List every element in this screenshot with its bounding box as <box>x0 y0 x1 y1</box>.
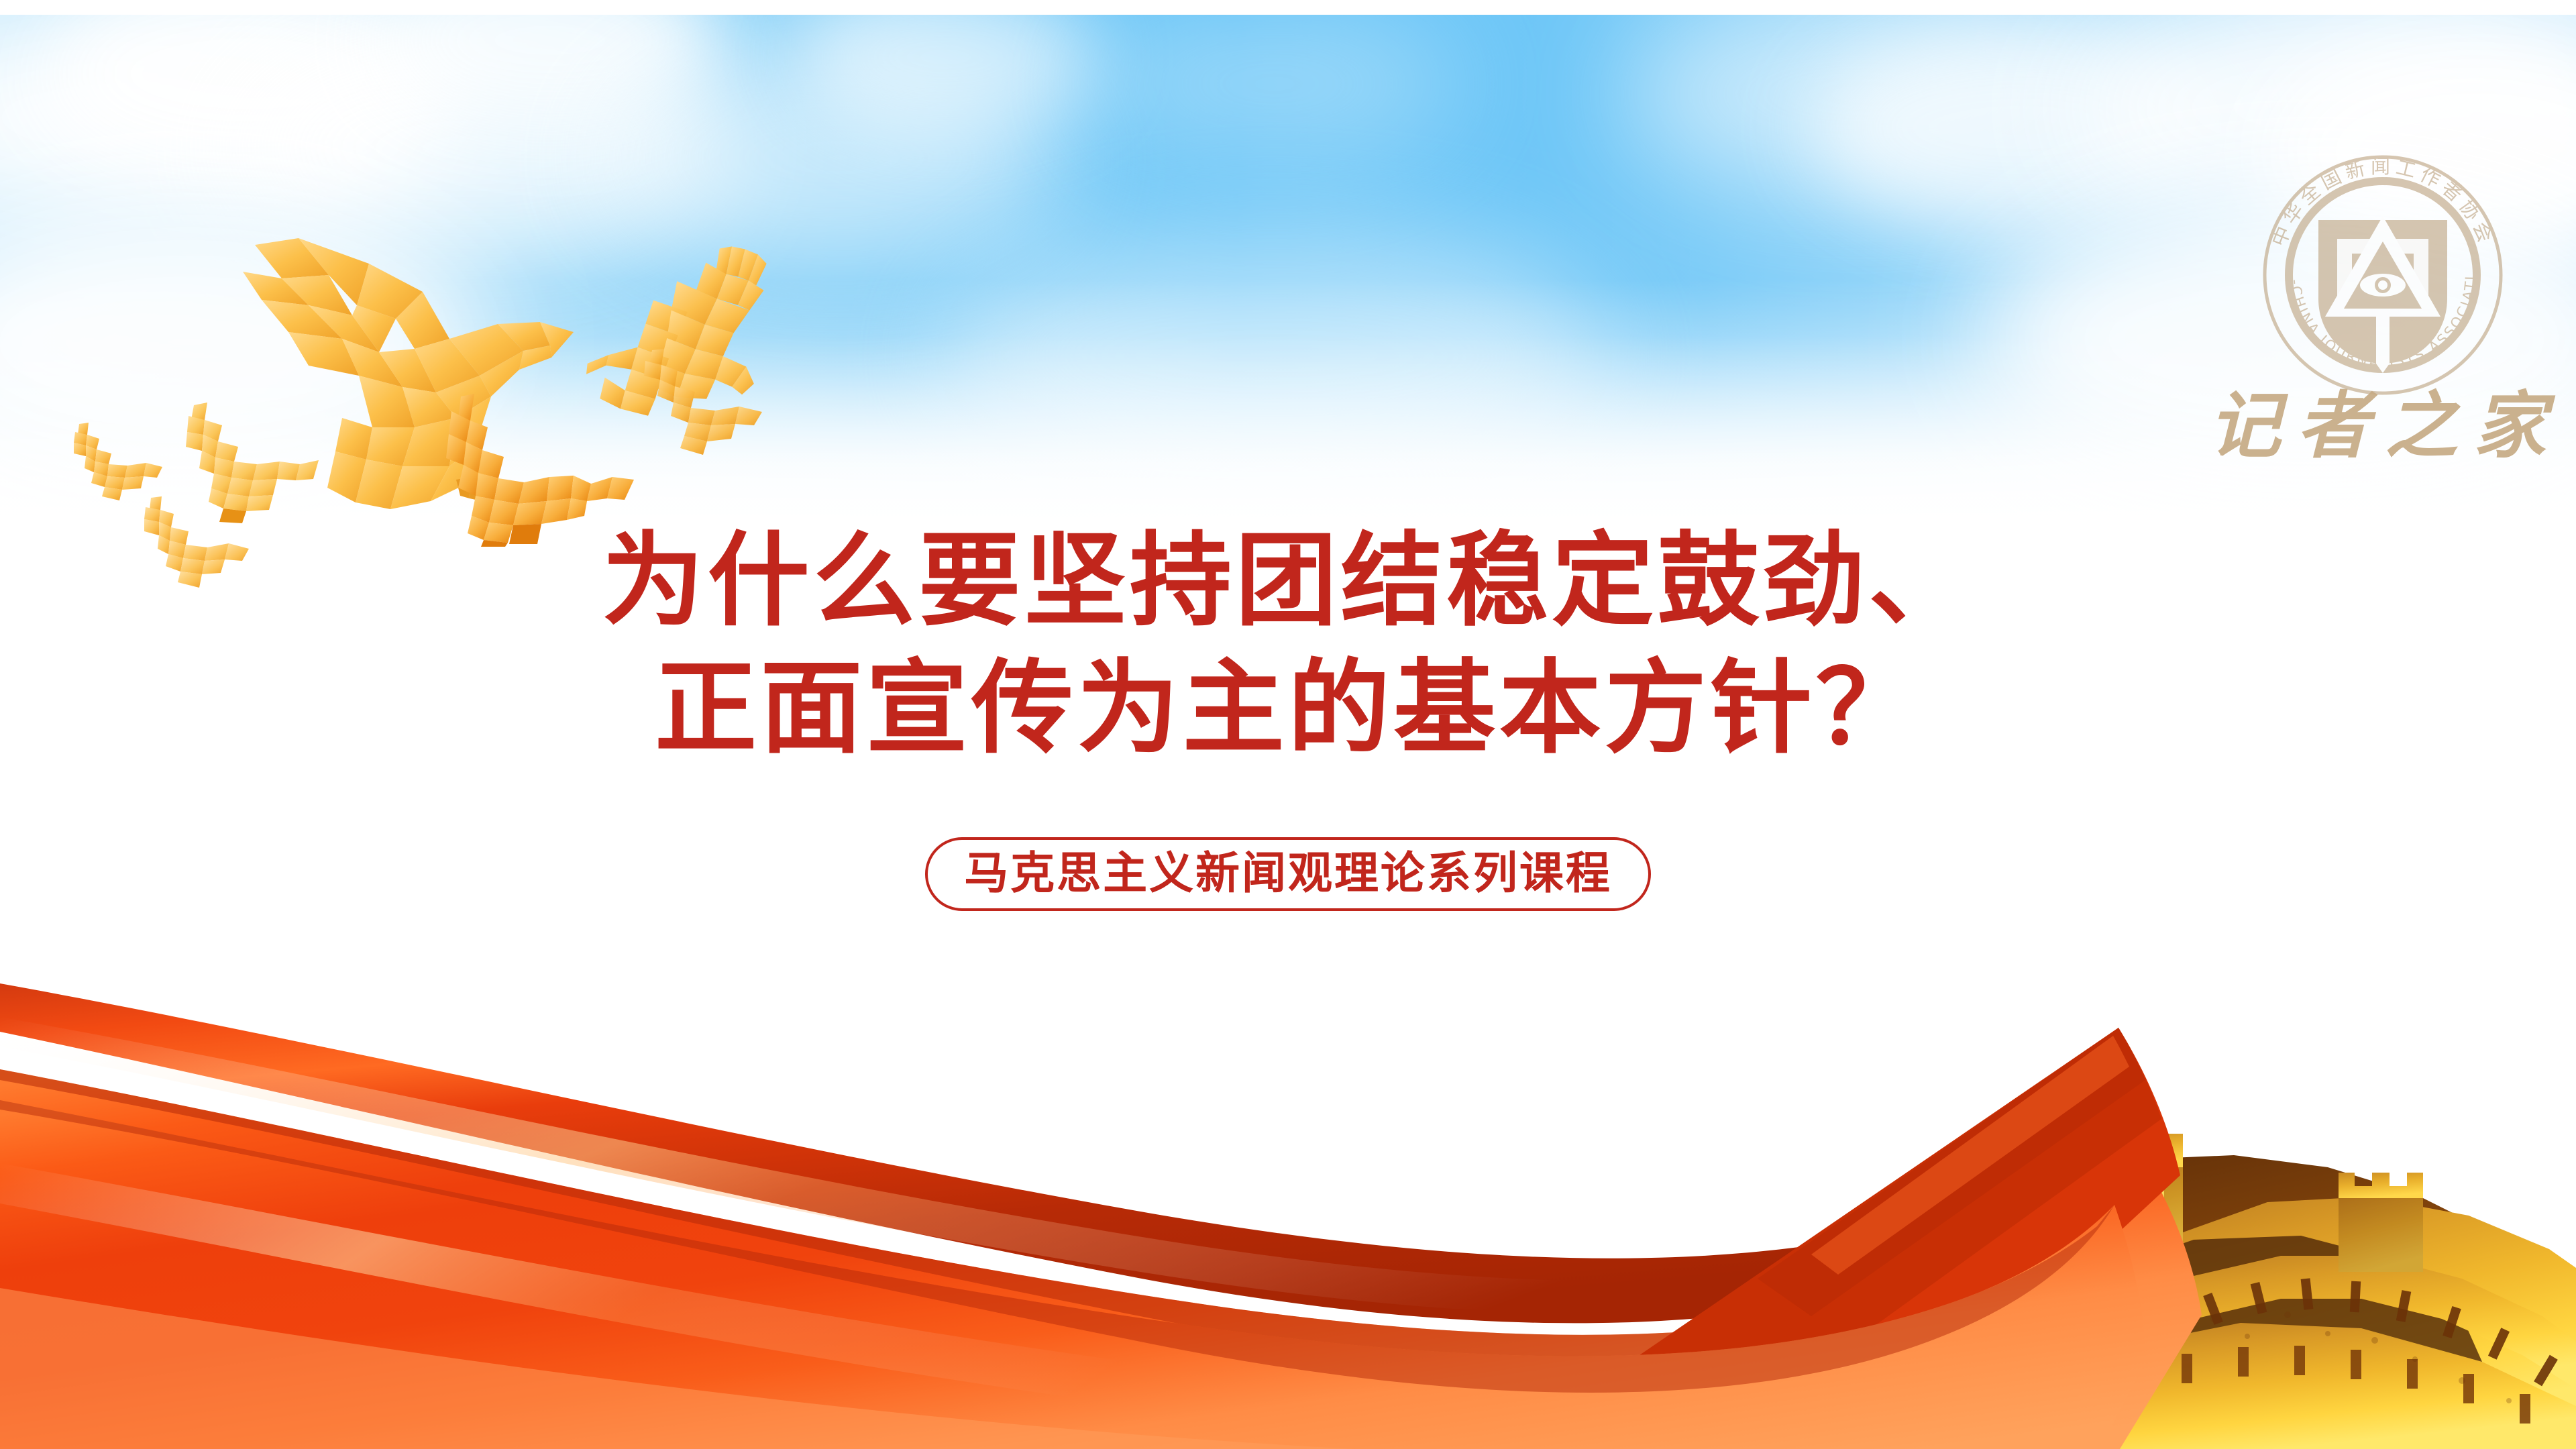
top-white-strip <box>0 0 2576 15</box>
title-line-2: 正面宣传为主的基本方针？ <box>0 644 2576 771</box>
subtitle-pill: 马克思主义新闻观理论系列课程 <box>925 837 1651 911</box>
title-line-1: 为什么要坚持团结稳定鼓劲、 <box>0 517 2576 644</box>
subtitle-text: 马克思主义新闻观理论系列课程 <box>964 847 1612 899</box>
subtitle: 马克思主义新闻观理论系列课程 <box>0 837 2576 911</box>
poster-canvas: 中华全国新闻工作者协会 ALL-CHINA JOURNALISTS ASSOCI… <box>0 0 2576 1449</box>
page-title: 为什么要坚持团结稳定鼓劲、 正面宣传为主的基本方针？ <box>0 517 2576 771</box>
